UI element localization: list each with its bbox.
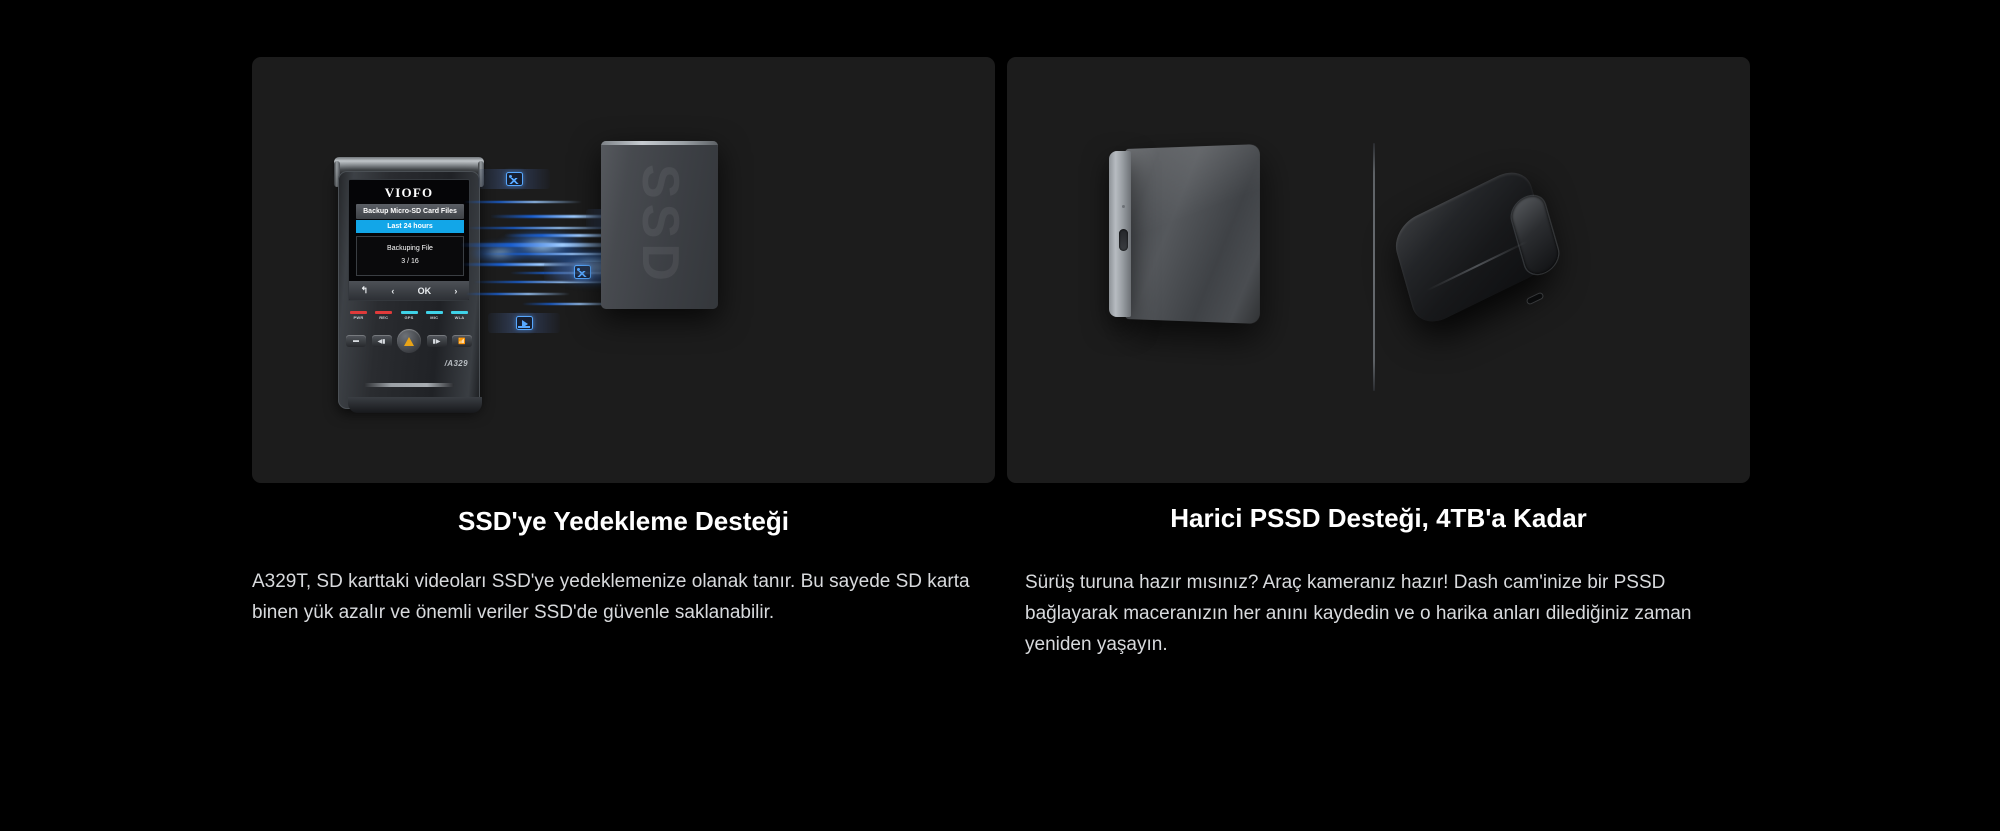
led-pwr-label: PWR [350,315,367,320]
feature-title: Harici PSSD Desteği, 4TB'a Kadar [1007,503,1750,534]
prev-button-icon[interactable]: ◀▮ [372,335,392,347]
screen-status-box: Backuping File 3 / 16 [356,236,464,276]
led-pwr: PWR [350,311,367,320]
panel-vertical-divider [1373,143,1375,391]
product-feature-section: VIOFO Backup Micro-SD Card Files Last 24… [0,0,2000,831]
file-chip-image-1 [478,169,550,189]
led-mic: MIC [426,311,443,320]
dashcam-speaker-grille [364,383,454,387]
emergency-record-button[interactable] [397,329,421,353]
ssd-drive-illustration: SSD [601,141,718,309]
silver-portable-ssd-illustration [1105,149,1257,319]
nav-back-icon[interactable]: ↰ [361,285,369,296]
dashcam-model-label: /A329 [445,359,468,368]
led-rec-label: REC [375,315,392,320]
dashcam-body: VIOFO Backup Micro-SD Card Files Last 24… [338,171,480,409]
screen-menu-header: Backup Micro-SD Card Files [356,204,464,219]
led-gps: GPS [401,311,418,320]
next-button-icon[interactable]: ▮▶ [427,335,447,347]
dashcam-base [348,397,482,413]
screen-status-label: Backuping File [357,245,463,252]
ssd-drive-label: SSD [630,164,690,286]
led-rec: REC [375,311,392,320]
feature-description: A329T, SD karttaki videoları SSD'ye yede… [252,567,995,629]
silver-ssd-status-led [1122,205,1125,208]
nav-prev-icon[interactable]: ‹ [391,286,394,296]
feature-title: SSD'ye Yedekleme Desteği [252,506,995,537]
black-portable-ssd-illustration [1379,177,1571,327]
nav-ok-button[interactable]: OK [418,286,432,296]
silver-ssd-side-edge [1109,151,1131,317]
wifi-button-icon[interactable]: 📶 [452,335,472,347]
usb-c-port-icon [1119,229,1128,251]
dashcam-status-leds: PWR REC GPS MIC [350,311,468,320]
led-mic-label: MIC [426,315,443,320]
video-file-icon [516,316,533,330]
feature-caption-external-pssd: Harici PSSD Desteği, 4TB'a Kadar Sürüş t… [1007,503,1750,660]
usb-c-port-icon [1527,293,1544,305]
dashcam-device-illustration: VIOFO Backup Micro-SD Card Files Last 24… [332,157,484,409]
screen-nav-bar: ↰ ‹ OK › [349,281,469,300]
silver-ssd-top-face [1125,144,1260,324]
feature-description: Sürüş turuna hazır mısınız? Araç kameran… [1007,568,1750,660]
dashcam-hardware-buttons: ▬ ◀▮ ▮▶ 📶 [346,329,472,353]
feature-caption-ssd-backup: SSD'ye Yedekleme Desteği A329T, SD kartt… [252,506,995,629]
image-file-icon [574,265,591,279]
screen-status-value: 3 / 16 [357,258,463,265]
warning-triangle-icon [404,337,414,346]
led-wlan-label: WLA [451,315,468,320]
led-wlan: WLA [451,311,468,320]
viofo-brand-logo: VIOFO [349,185,469,201]
led-gps-label: GPS [401,315,418,320]
nav-next-icon[interactable]: › [454,286,457,296]
menu-button-icon[interactable]: ▬ [346,335,366,347]
feature-card-image-external-pssd [1007,57,1750,483]
dashcam-screen: VIOFO Backup Micro-SD Card Files Last 24… [348,179,470,301]
image-file-icon [506,172,523,186]
feature-card-image-ssd-backup: VIOFO Backup Micro-SD Card Files Last 24… [252,57,995,483]
screen-selected-option[interactable]: Last 24 hours [356,220,464,233]
file-chip-video-2 [488,313,560,333]
